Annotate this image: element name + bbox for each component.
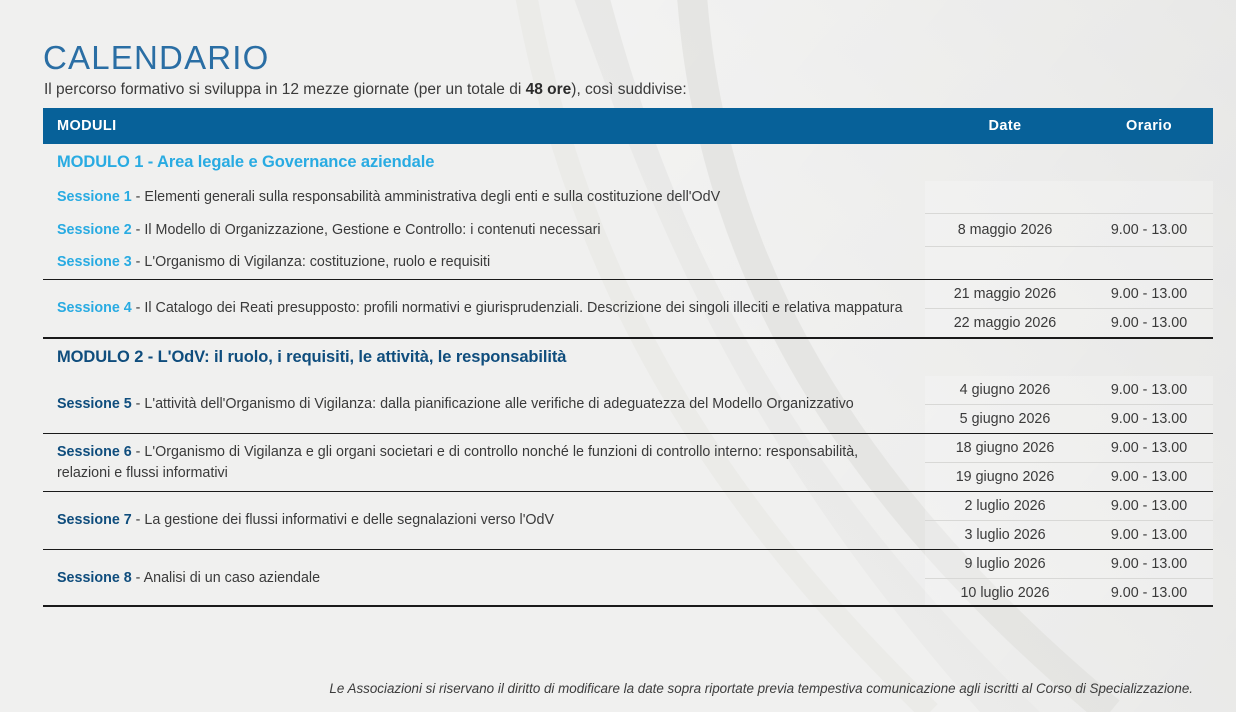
time-cell [1085,246,1213,279]
column-header-orario: Orario [1085,108,1213,144]
time-cell [1085,181,1213,214]
session-row: Sessione 6 - L'Organismo di Vigilanza e … [43,434,1213,463]
session-cell: Sessione 8 - Analisi di un caso aziendal… [43,550,925,608]
session-cell: Sessione 1 - Elementi generali sulla res… [43,181,925,214]
date-cell: 5 giugno 2026 [925,405,1085,434]
time-cell: 9.00 - 13.00 [1085,521,1213,550]
session-description: - L'attività dell'Organismo di Vigilanza… [132,396,854,412]
module-title-cell: MODULO 2 - L'OdV: il ruolo, i requisiti,… [43,338,1213,376]
date-cell: 10 luglio 2026 [925,579,1085,608]
date-cell: 8 maggio 2026 [925,214,1085,247]
session-label: Sessione 7 [57,512,132,528]
time-cell: 9.00 - 13.00 [1085,405,1213,434]
session-cell: Sessione 6 - L'Organismo di Vigilanza e … [43,434,925,492]
time-cell: 9.00 - 13.00 [1085,579,1213,608]
session-label: Sessione 3 [57,254,132,270]
session-cell: Sessione 3 - L'Organismo di Vigilanza: c… [43,246,925,279]
subtitle-hours: 48 ore [526,81,572,98]
module-title-cell: MODULO 1 - Area legale e Governance azie… [43,144,1213,181]
session-description: - Elementi generali sulla responsabilità… [132,189,720,205]
date-cell: 9 luglio 2026 [925,550,1085,579]
session-row: Sessione 7 - La gestione dei flussi info… [43,492,1213,521]
session-description: - Il Catalogo dei Reati presupposto: pro… [132,300,903,316]
column-header-moduli: MODULI [43,108,925,144]
time-cell: 9.00 - 13.00 [1085,309,1213,339]
session-description: - Analisi di un caso aziendale [132,570,320,586]
subtitle-text-before: Il percorso formativo si sviluppa in 12 … [44,81,526,98]
date-cell: 4 giugno 2026 [925,376,1085,405]
time-cell: 9.00 - 13.00 [1085,550,1213,579]
footnote: Le Associazioni si riservano il diritto … [0,681,1216,696]
session-row: Sessione 1 - Elementi generali sulla res… [43,181,1213,214]
calendar-page: CALENDARIO Il percorso formativo si svil… [0,0,1236,712]
session-row: Sessione 4 - Il Catalogo dei Reati presu… [43,280,1213,309]
session-cell: Sessione 2 - Il Modello di Organizzazion… [43,214,925,247]
table-header-row: MODULI Date Orario [43,108,1213,144]
session-row: Sessione 3 - L'Organismo di Vigilanza: c… [43,246,1213,279]
session-cell: Sessione 4 - Il Catalogo dei Reati presu… [43,280,925,339]
session-label: Sessione 5 [57,396,132,412]
page-title: CALENDARIO [43,41,270,74]
date-cell [925,246,1085,279]
time-cell: 9.00 - 13.00 [1085,434,1213,463]
session-label: Sessione 1 [57,189,132,205]
session-description: - L'Organismo di Vigilanza e gli organi … [57,444,858,481]
date-cell [925,181,1085,214]
module-title-row: MODULO 1 - Area legale e Governance azie… [43,144,1213,181]
date-cell: 19 giugno 2026 [925,463,1085,492]
session-label: Sessione 8 [57,570,132,586]
date-cell: 18 giugno 2026 [925,434,1085,463]
time-cell: 9.00 - 13.00 [1085,463,1213,492]
session-label: Sessione 4 [57,300,132,316]
date-cell: 22 maggio 2026 [925,309,1085,339]
time-cell: 9.00 - 13.00 [1085,280,1213,309]
session-cell: Sessione 7 - La gestione dei flussi info… [43,492,925,550]
session-description: - L'Organismo di Vigilanza: costituzione… [132,254,490,270]
session-cell: Sessione 5 - L'attività dell'Organismo d… [43,376,925,434]
date-cell: 3 luglio 2026 [925,521,1085,550]
date-cell: 2 luglio 2026 [925,492,1085,521]
table-head: MODULI Date Orario [43,108,1213,144]
page-subtitle: Il percorso formativo si sviluppa in 12 … [44,80,687,100]
table-bottom-rule [43,605,1213,607]
calendar-table: MODULI Date Orario MODULO 1 - Area legal… [43,108,1213,607]
module-title-row: MODULO 2 - L'OdV: il ruolo, i requisiti,… [43,338,1213,376]
session-description: - Il Modello di Organizzazione, Gestione… [132,222,601,238]
session-row: Sessione 2 - Il Modello di Organizzazion… [43,214,1213,247]
time-cell: 9.00 - 13.00 [1085,492,1213,521]
module-title: MODULO 1 - Area legale e Governance azie… [57,153,434,171]
session-label: Sessione 6 [57,444,132,460]
column-header-date: Date [925,108,1085,144]
session-label: Sessione 2 [57,222,132,238]
session-row: Sessione 5 - L'attività dell'Organismo d… [43,376,1213,405]
session-description: - La gestione dei flussi informativi e d… [132,512,554,528]
module-title: MODULO 2 - L'OdV: il ruolo, i requisiti,… [57,348,566,366]
time-cell: 9.00 - 13.00 [1085,214,1213,247]
date-cell: 21 maggio 2026 [925,280,1085,309]
session-row: Sessione 8 - Analisi di un caso aziendal… [43,550,1213,579]
time-cell: 9.00 - 13.00 [1085,376,1213,405]
table-body: MODULO 1 - Area legale e Governance azie… [43,144,1213,607]
subtitle-text-after: ), così suddivise: [571,81,686,98]
